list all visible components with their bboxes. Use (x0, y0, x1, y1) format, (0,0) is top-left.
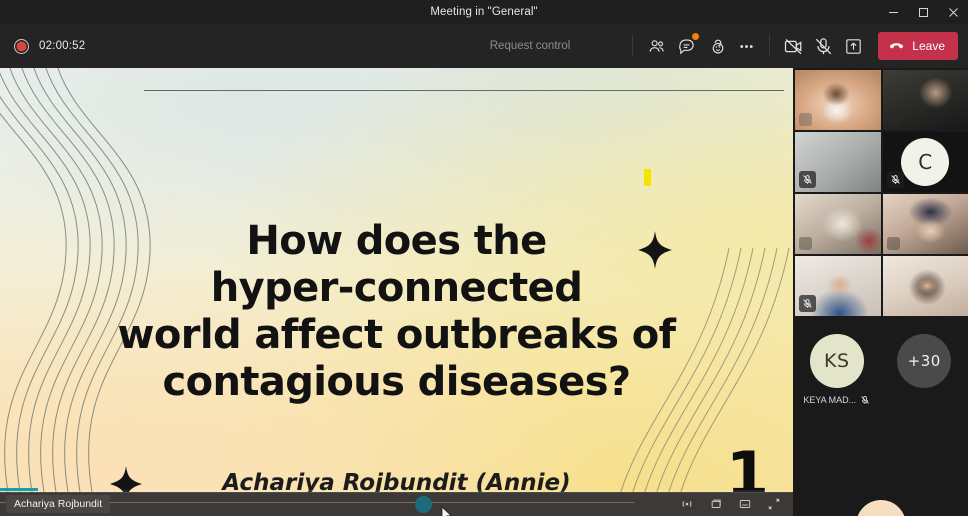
live-captions-icon[interactable] (680, 497, 694, 511)
video-tile-8[interactable] (883, 256, 968, 316)
toolbar-divider (632, 35, 633, 57)
video-tile-4[interactable]: C (883, 132, 968, 192)
participant-video-grid: C (793, 68, 968, 326)
people-icon[interactable] (641, 31, 671, 61)
slide-page-number: 1 (726, 444, 769, 492)
share-screen-icon[interactable] (838, 31, 868, 61)
avatar-overflow-count: +30 (897, 334, 951, 388)
presentation-slide[interactable]: How does the hyper-connected world affec… (0, 68, 793, 492)
slide-title-line-3: world affect outbreaks of (60, 312, 733, 359)
video-tile-1[interactable] (795, 70, 881, 130)
leave-button-label: Leave (912, 39, 945, 53)
window-title: Meeting in "General" (0, 6, 968, 18)
shared-content-stage[interactable]: How does the hyper-connected world affec… (0, 68, 793, 516)
mic-off-icon (799, 171, 816, 188)
video-tile-2[interactable] (883, 70, 968, 130)
seek-handle[interactable] (415, 496, 432, 513)
recording-indicator: 02:00:52 (0, 39, 85, 54)
participant-avatar-single: VK (793, 500, 968, 516)
slide-progress-track[interactable] (0, 490, 793, 493)
participant-avatar-row: KS KEYA MAD... +30 (793, 330, 968, 418)
layout-icon[interactable] (709, 497, 723, 511)
teams-meeting-window: Meeting in "General" 02:00:52 Request co… (0, 0, 968, 516)
presenter-control-bar: Achariya Rojbundit (0, 492, 793, 516)
mic-off-icon[interactable] (808, 31, 838, 61)
camera-off-icon[interactable] (778, 31, 808, 61)
slide-progress-fill (0, 488, 38, 491)
avatar-vk[interactable]: VK (856, 500, 906, 516)
window-controls (878, 0, 968, 24)
slide-title: How does the hyper-connected world affec… (0, 218, 793, 406)
initial-circle-c: C (901, 138, 949, 186)
slide-divider-line (144, 90, 784, 91)
slide-title-line-1: How does the (60, 218, 733, 265)
recording-dot-icon (14, 39, 29, 54)
minimize-icon[interactable] (878, 0, 908, 24)
video-tile-3[interactable] (795, 132, 881, 192)
participant-roster: C (793, 68, 968, 516)
presenter-notes-icon[interactable] (738, 497, 752, 511)
slide-author: Achariya Rojbundit (Annie) (0, 468, 793, 492)
mic-off-icon (799, 295, 816, 312)
annotation-marker (644, 169, 651, 186)
presenter-bar-icons (680, 492, 781, 516)
close-icon[interactable] (938, 0, 968, 24)
avatar-initials-ks: KS (810, 334, 864, 388)
video-tile-7[interactable] (795, 256, 881, 316)
meeting-timer: 02:00:52 (39, 40, 85, 52)
avatar-overflow[interactable]: +30 (883, 334, 965, 388)
mouse-cursor (441, 506, 453, 516)
reactions-icon[interactable] (701, 31, 731, 61)
restore-icon[interactable] (908, 0, 938, 24)
avatar-label-keya: KEYA MAD... (803, 395, 870, 405)
leave-button[interactable]: Leave (878, 32, 958, 60)
meeting-toolbar: 02:00:52 Request control (0, 24, 968, 68)
presenter-name-chip: Achariya Rojbundit (6, 495, 110, 513)
collapse-icon[interactable] (767, 497, 781, 511)
toolbar-divider-2 (769, 35, 770, 57)
mic-off-icon (887, 171, 904, 188)
request-control-button[interactable]: Request control (490, 40, 571, 52)
mic-off-icon (860, 395, 870, 405)
video-tile-6[interactable] (883, 194, 968, 254)
chat-icon[interactable] (671, 31, 701, 61)
chat-unread-badge (692, 33, 699, 40)
title-bar: Meeting in "General" (0, 0, 968, 24)
more-icon[interactable] (731, 31, 761, 61)
slide-title-line-2: hyper-connected (60, 265, 733, 312)
avatar-name-keya: KEYA MAD... (803, 395, 856, 405)
slide-title-line-4: contagious diseases? (60, 359, 733, 406)
avatar-keya[interactable]: KS KEYA MAD... (796, 334, 878, 405)
video-tile-5[interactable] (795, 194, 881, 254)
